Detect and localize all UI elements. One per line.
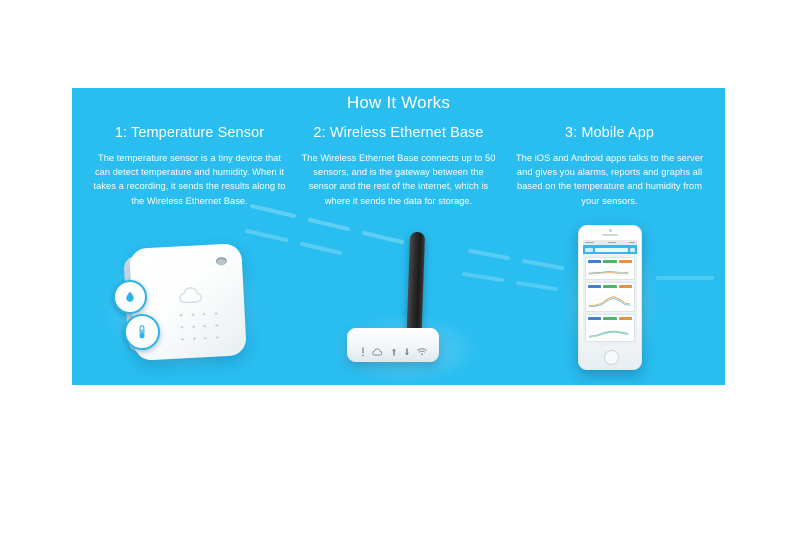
page-title: How It Works <box>72 93 725 113</box>
wifi-icon <box>417 348 427 356</box>
line-chart <box>588 290 632 310</box>
legend-chip <box>603 317 616 320</box>
legend-chip <box>619 260 632 263</box>
phone-screen[interactable] <box>583 240 637 346</box>
app-nav-title <box>595 248 628 252</box>
base-body <box>347 328 439 362</box>
app-back-button[interactable] <box>585 248 593 252</box>
chart-card[interactable] <box>585 282 635 312</box>
phone-earpiece <box>602 234 618 236</box>
line-chart <box>588 322 632 340</box>
phone-camera <box>609 229 612 232</box>
step-column-mobile-app: 3: Mobile App The iOS and Android apps t… <box>502 124 717 208</box>
step-column-wireless-ethernet-base: 2: Wireless Ethernet Base The Wireless E… <box>291 124 506 208</box>
cloud-icon <box>372 348 383 356</box>
step-1-body: The temperature sensor is a tiny device … <box>92 151 288 208</box>
legend-chip <box>603 285 616 288</box>
legend-chip <box>619 285 632 288</box>
chart-legend <box>588 317 632 320</box>
legend-chip <box>588 317 601 320</box>
step-column-temperature-sensor: 1: Temperature Sensor The temperature se… <box>82 124 297 208</box>
thermometer-icon <box>124 314 160 350</box>
wireless-ethernet-base-image <box>334 228 474 368</box>
legend-chip <box>588 285 601 288</box>
alert-icon <box>361 347 365 357</box>
app-nav-bar <box>583 245 637 254</box>
legend-chip <box>588 260 601 263</box>
device-illustrations <box>72 228 725 385</box>
step-1-heading: 1: Temperature Sensor <box>82 124 297 142</box>
cloud-logo-icon <box>177 285 204 304</box>
line-chart <box>588 264 632 278</box>
step-3-heading: 3: Mobile App <box>502 124 717 142</box>
sensor-lanyard-hole <box>216 257 227 266</box>
phone-home-button[interactable] <box>604 350 619 365</box>
step-2-body: The Wireless Ethernet Base connects up t… <box>301 151 497 208</box>
mobile-phone-image <box>572 225 652 375</box>
how-it-works-panel: How It Works 1: Temperature Sensor The t… <box>72 88 725 385</box>
water-drop-glyph <box>123 290 137 304</box>
step-2-heading: 2: Wireless Ethernet Base <box>291 124 506 142</box>
phone-frame <box>578 225 642 370</box>
step-3-body: The iOS and Android apps talks to the se… <box>512 151 708 208</box>
legend-chip <box>603 260 616 263</box>
chart-card[interactable] <box>585 257 635 280</box>
temperature-sensor-image <box>110 238 250 363</box>
humidity-drop-icon <box>113 280 147 314</box>
app-action-button[interactable] <box>630 248 635 252</box>
chart-card[interactable] <box>585 314 635 342</box>
download-arrow-icon <box>404 347 410 357</box>
chart-legend <box>588 260 632 263</box>
chart-legend <box>588 285 632 288</box>
legend-chip <box>619 317 632 320</box>
sensor-speaker-grid <box>176 308 222 344</box>
thermometer-glyph <box>134 324 150 340</box>
upload-arrow-icon <box>391 347 397 357</box>
base-indicator-icons <box>361 346 427 358</box>
